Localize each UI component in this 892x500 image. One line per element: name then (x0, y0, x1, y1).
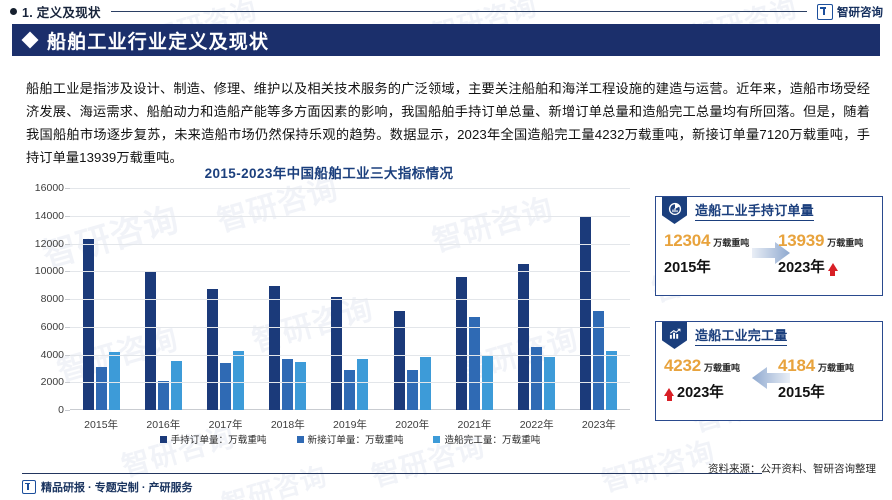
chart-bar (220, 363, 231, 410)
stat-unit: 万载重吨 (713, 236, 749, 249)
chart-bar (145, 272, 156, 410)
footer-tagline: 精品研报 · 专题定制 · 产研服务 (41, 479, 193, 495)
chart-container: 2015-2023年中国船舶工业三大指标情况 2015年2016年2017年20… (18, 160, 640, 460)
stat-from: 12304 万载重吨 2015年 (664, 231, 764, 277)
chart-bar (109, 352, 120, 410)
stat-year: 2023年 (677, 381, 724, 402)
card-header: 造船工业完工量 (656, 322, 787, 348)
chart-bar (544, 357, 555, 410)
chart-bar (233, 351, 244, 410)
card-title: 造船工业手持订单量 (695, 200, 814, 221)
body-paragraph: 船舶工业是指涉及设计、制造、修理、维护以及相关技术服务的广泛领域，主要关注船舶和… (26, 77, 870, 169)
y-axis-tick-label: 8000 (41, 293, 64, 305)
y-axis-tick-mark (65, 244, 70, 245)
chart-gridline (70, 299, 630, 300)
stat-year: 2015年 (664, 256, 711, 277)
y-axis-tick-label: 10000 (35, 265, 64, 277)
chart-bar (357, 359, 368, 410)
chart-bar (83, 239, 94, 410)
legend-swatch-icon (297, 436, 304, 443)
chart-bar (96, 367, 107, 410)
chart-bar (407, 370, 418, 410)
chart-bar (207, 289, 218, 410)
stat-to: 13939 万载重吨 2023年 (778, 231, 878, 277)
x-axis-tick-label: 2023年 (582, 417, 616, 432)
y-axis-tick-label: 0 (58, 404, 64, 416)
chart-bar (158, 381, 169, 410)
y-axis-tick-mark (65, 299, 70, 300)
stat-year: 2023年 (778, 256, 825, 277)
stat-value: 4232 (664, 356, 701, 376)
chart-bar (518, 264, 529, 410)
x-axis-tick-label: 2022年 (520, 417, 554, 432)
logo-mark-icon (817, 4, 833, 20)
chart-gridline (70, 355, 630, 356)
card-header: 造船工业手持订单量 (656, 197, 814, 223)
x-axis-tick-label: 2021年 (457, 417, 491, 432)
y-axis-tick-label: 6000 (41, 321, 64, 333)
x-axis-tick-label: 2020年 (395, 417, 429, 432)
x-axis-tick-label: 2018年 (271, 417, 305, 432)
chart-gridline (70, 382, 630, 383)
stat-year: 2015年 (778, 381, 825, 402)
brand-logo: 智研咨询 (817, 4, 883, 20)
chart-bar (580, 217, 591, 410)
legend-swatch-icon (160, 436, 167, 443)
y-axis-tick-mark (65, 271, 70, 272)
chart-bar (282, 359, 293, 410)
y-axis-tick-mark (65, 410, 70, 411)
chart-legend-item[interactable]: 新接订单量：万载重吨 (297, 432, 404, 446)
y-axis-tick-label: 16000 (35, 182, 64, 194)
stat-to: 4232 万载重吨 2023年 (664, 356, 764, 402)
y-axis-tick-mark (65, 327, 70, 328)
logo-mark-icon (22, 480, 36, 494)
footer-brand: 精品研报 · 专题定制 · 产研服务 (22, 479, 193, 495)
trend-up-icon (828, 263, 838, 271)
stat-value: 12304 (664, 231, 710, 251)
chart-legend: 手持订单量：万载重吨新接订单量：万载重吨造船完工量：万载重吨 (70, 432, 630, 446)
x-axis-tick-label: 2015年 (84, 417, 118, 432)
stat-value: 4184 (778, 356, 815, 376)
chart-bar (469, 317, 480, 410)
section-header: 船舶工业行业定义及现状 (12, 24, 880, 56)
y-axis-tick-mark (65, 188, 70, 189)
card-body: 4232 万载重吨 2023年 4184 万载重吨 2015年 (656, 356, 882, 418)
chart-gridline (70, 271, 630, 272)
page-title: 船舶工业行业定义及现状 (47, 27, 269, 54)
header-divider (111, 11, 807, 12)
chart-bar (344, 370, 355, 410)
stat-from: 4184 万载重吨 2015年 (778, 356, 878, 402)
breadcrumb: 1. 定义及现状 (22, 2, 101, 21)
chart-bar (171, 361, 182, 410)
chart-gridline (70, 216, 630, 217)
x-axis-tick-label: 2016年 (146, 417, 180, 432)
stat-unit: 万载重吨 (827, 236, 863, 249)
legend-swatch-icon (433, 436, 440, 443)
bullet-icon (10, 8, 17, 15)
chart-plot-area: 2015年2016年2017年2018年2019年2020年2021年2022年… (70, 188, 630, 410)
diamond-icon (22, 32, 39, 49)
breadcrumb-bar: 1. 定义及现状 智研咨询 (0, 0, 892, 23)
legend-label: 手持订单量：万载重吨 (171, 432, 267, 446)
chart-bar (456, 277, 467, 410)
footer-divider (22, 473, 762, 474)
chart-legend-item[interactable]: 造船完工量：万载重吨 (433, 432, 540, 446)
chart-title: 2015-2023年中国船舶工业三大指标情况 (18, 160, 640, 182)
chart-bar (606, 351, 617, 410)
source-note: 资料来源：公开资料、智研咨询整理 (708, 461, 876, 476)
chart-bar (420, 357, 431, 410)
y-axis-tick-label: 12000 (35, 238, 64, 250)
chart-gridline (70, 188, 630, 189)
y-axis-tick-label: 2000 (41, 376, 64, 388)
y-axis-tick-mark (65, 216, 70, 217)
chart-bar (531, 347, 542, 410)
legend-label: 造船完工量：万载重吨 (444, 432, 540, 446)
brand-name: 智研咨询 (837, 4, 883, 20)
stat-unit: 万载重吨 (818, 361, 854, 374)
chart-bar (269, 286, 280, 410)
chart-bar (295, 362, 306, 410)
stat-card-handheld-orders: 造船工业手持订单量 12304 万载重吨 2015年 13939 万载重吨 (655, 196, 883, 296)
card-body: 12304 万载重吨 2015年 13939 万载重吨 2023年 (656, 231, 882, 293)
bar-chart-up-icon (662, 322, 687, 349)
y-axis-tick-label: 4000 (41, 349, 64, 361)
chart-bar (331, 297, 342, 410)
legend-label: 新接订单量：万载重吨 (308, 432, 404, 446)
x-axis-tick-label: 2019年 (333, 417, 367, 432)
watermark-text: 智研咨询 (217, 456, 331, 500)
y-axis-tick-mark (65, 355, 70, 356)
y-axis-tick-label: 14000 (35, 210, 64, 222)
chart-gridline (70, 327, 630, 328)
stat-card-completed-output: 造船工业完工量 4232 万载重吨 2023年 4184 万载重吨 (655, 321, 883, 421)
trend-up-icon (664, 388, 674, 396)
stat-unit: 万载重吨 (704, 361, 740, 374)
stat-value: 13939 (778, 231, 824, 251)
card-title: 造船工业完工量 (695, 325, 787, 346)
pie-chart-icon (662, 197, 687, 224)
y-axis-tick-mark (65, 382, 70, 383)
x-axis-tick-label: 2017年 (209, 417, 243, 432)
chart-legend-item[interactable]: 手持订单量：万载重吨 (160, 432, 267, 446)
chart-gridline (70, 244, 630, 245)
